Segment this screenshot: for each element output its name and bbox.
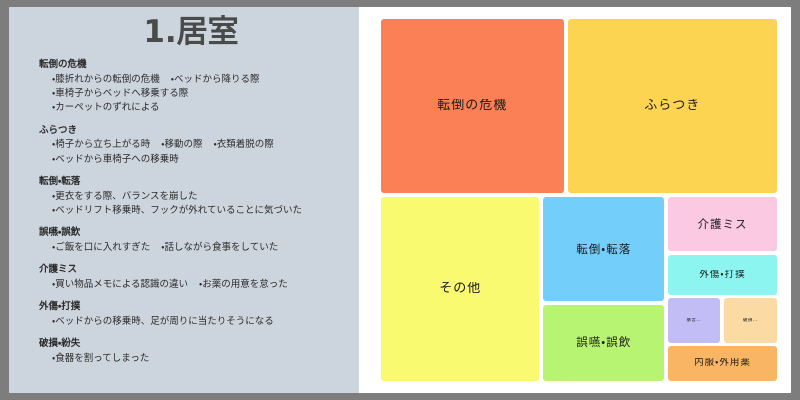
treemap-tile[interactable]: 暴言…	[668, 298, 719, 342]
treemap-tile[interactable]: 外傷・打撲	[668, 255, 777, 295]
treemap-tile-label: 外傷・打撲	[699, 270, 745, 280]
outline-bullet: 車椅子からベッドへ移乗する際	[52, 88, 188, 99]
incident-outline-list: 転倒の危機膝折れからの転倒の危機ベッドから降りる際車椅子からベッドへ移乗する際カ…	[39, 59, 359, 375]
treemap-tile[interactable]: 転倒・転落	[543, 197, 664, 301]
outline-category-items: 椅子から立ち上がる時移動の際衣類着脱の際ベッドから車椅子への移乗時	[39, 138, 359, 167]
outline-line: ベッドから車椅子への移乗時	[52, 153, 359, 167]
treemap-chart: 転倒の危機ふらつきその他転倒・転落誤嚥・誤飲介護ミス外傷・打撲暴言…破損…内服・…	[381, 19, 777, 381]
outline-bullet: 衣類着脱の際	[214, 139, 274, 150]
outline-category-items: 買い物品メモによる認識の違いお薬の用意を怠った	[39, 278, 359, 292]
outline-category: 転倒・転落更衣をする際、バランスを崩したベッドリフト移乗時、フックが外れているこ…	[39, 176, 359, 218]
outline-category-items: ご飯を口に入れすぎた話しながら食事をしていた	[39, 241, 359, 255]
outline-category: 誤嚥・誤飲ご飯を口に入れすぎた話しながら食事をしていた	[39, 227, 359, 255]
outline-bullet: ベッドリフト移乗時、フックが外れていることに気づいた	[52, 205, 302, 216]
outline-category-heading: 誤嚥・誤飲	[39, 227, 359, 240]
outline-category: ふらつき椅子から立ち上がる時移動の際衣類着脱の際ベッドから車椅子への移乗時	[39, 125, 359, 167]
outline-bullet: 椅子から立ち上がる時	[52, 139, 150, 150]
outline-bullet: ご飯を口に入れすぎた	[52, 242, 150, 253]
treemap-tile[interactable]: 破損…	[724, 298, 777, 342]
outline-bullet: 買い物品メモによる認識の違い	[52, 279, 188, 290]
outline-line: 椅子から立ち上がる時移動の際衣類着脱の際	[52, 138, 359, 152]
outline-bullet: 移動の際	[161, 139, 202, 150]
treemap-tile[interactable]: ふらつき	[568, 19, 777, 193]
outline-line: カーペットのずれによる	[52, 101, 359, 115]
outline-bullet: 更衣をする際、バランスを崩した	[52, 191, 198, 202]
outline-line: 車椅子からベッドへ移乗する際	[52, 87, 359, 101]
outline-category-items: 更衣をする際、バランスを崩したベッドリフト移乗時、フックが外れていることに気づい…	[39, 190, 359, 219]
treemap-tile-label: 暴言…	[686, 318, 701, 323]
treemap-tile[interactable]: 誤嚥・誤飲	[543, 305, 664, 381]
treemap-tile[interactable]: 転倒の危機	[381, 19, 564, 193]
outline-category-items: 膝折れからの転倒の危機ベッドから降りる際車椅子からベッドへ移乗する際カーペットの…	[39, 73, 359, 116]
treemap-tile-label: その他	[439, 282, 481, 296]
outline-bullet: お薬の用意を怠った	[199, 279, 288, 290]
treemap-tile-label: 内服・外用薬	[694, 358, 751, 368]
outline-category-heading: ふらつき	[39, 125, 359, 138]
outline-bullet: 膝折れからの転倒の危機	[52, 74, 160, 85]
outline-category: 外傷・打撲ベッドからの移乗時、足が周りに当たりそうになる	[39, 301, 359, 329]
treemap-tile-label: 転倒の危機	[437, 99, 507, 113]
treemap-tile[interactable]: 介護ミス	[668, 197, 777, 251]
outline-category: 破損・紛失食器を割ってしまった	[39, 338, 359, 366]
outline-bullet: ベッドから降りる際	[171, 74, 260, 85]
treemap-tile-label: 破損…	[743, 318, 758, 323]
slide-canvas: 1.居室 転倒の危機膝折れからの転倒の危機ベッドから降りる際車椅子からベッドへ移…	[0, 0, 800, 400]
outline-bullet: ベッドから車椅子への移乗時	[52, 154, 179, 165]
right-chart-panel: 転倒の危機ふらつきその他転倒・転落誤嚥・誤飲介護ミス外傷・打撲暴言…破損…内服・…	[367, 7, 791, 393]
treemap-tile-label: 誤嚥・誤飲	[576, 336, 631, 349]
outline-bullet: 食器を割ってしまった	[52, 353, 149, 364]
outline-category-items: ベッドからの移乗時、足が周りに当たりそうになる	[39, 315, 359, 329]
outline-bullet: ベッドからの移乗時、足が周りに当たりそうになる	[52, 316, 274, 327]
treemap-tile[interactable]: 内服・外用薬	[668, 346, 777, 381]
outline-category-heading: 外傷・打撲	[39, 301, 359, 314]
outline-category-heading: 破損・紛失	[39, 338, 359, 351]
treemap-tile-label: 転倒・転落	[576, 243, 631, 256]
outline-category: 介護ミス買い物品メモによる認識の違いお薬の用意を怠った	[39, 264, 359, 292]
outline-category: 転倒の危機膝折れからの転倒の危機ベッドから降りる際車椅子からベッドへ移乗する際カ…	[39, 59, 359, 116]
outline-bullet: 話しながら食事をしていた	[161, 242, 278, 253]
outline-line: 食器を割ってしまった	[52, 352, 359, 366]
treemap-tile-label: ふらつき	[644, 99, 700, 113]
page-title: 1.居室	[9, 15, 359, 49]
outline-category-heading: 介護ミス	[39, 264, 359, 277]
outline-line: ベッドからの移乗時、足が周りに当たりそうになる	[52, 315, 359, 329]
outline-category-heading: 転倒の危機	[39, 59, 359, 72]
left-content-panel: 1.居室 転倒の危機膝折れからの転倒の危機ベッドから降りる際車椅子からベッドへ移…	[9, 7, 359, 393]
outline-category-heading: 転倒・転落	[39, 176, 359, 189]
treemap-tile-label: 介護ミス	[698, 218, 748, 231]
outline-line: 更衣をする際、バランスを崩した	[52, 190, 359, 204]
outline-category-items: 食器を割ってしまった	[39, 352, 359, 366]
outline-line: ベッドリフト移乗時、フックが外れていることに気づいた	[52, 204, 359, 218]
outline-bullet: カーペットのずれによる	[52, 102, 159, 113]
outline-line: 買い物品メモによる認識の違いお薬の用意を怠った	[52, 278, 359, 292]
outline-line: ご飯を口に入れすぎた話しながら食事をしていた	[52, 241, 359, 255]
treemap-tile[interactable]: その他	[381, 197, 539, 381]
outline-line: 膝折れからの転倒の危機ベッドから降りる際	[52, 73, 359, 87]
